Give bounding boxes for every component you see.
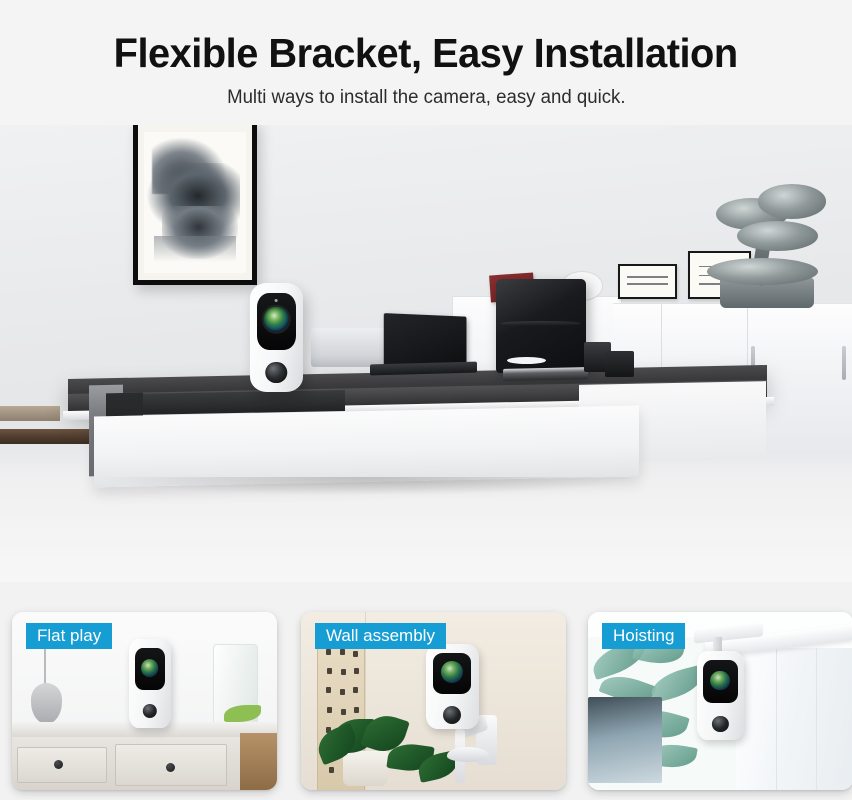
certificate-frame-1 <box>618 264 678 298</box>
camera-led-icon <box>275 299 278 302</box>
bonsai-foliage <box>758 184 826 218</box>
plant-pot <box>343 751 388 787</box>
page-title: Flexible Bracket, Easy Installation <box>114 33 738 74</box>
install-card-flat-play[interactable]: Flat play <box>12 612 277 790</box>
desk-floor-shadow <box>102 477 630 495</box>
desk-storage-box <box>311 328 392 367</box>
card-tag-flat-play: Flat play <box>26 623 112 649</box>
desk-modesty-panel <box>94 405 639 487</box>
framed-ink-painting <box>133 125 257 285</box>
camera-lens-icon <box>264 307 289 332</box>
bonsai-foliage <box>737 221 818 251</box>
camera-face-panel <box>257 293 297 350</box>
install-card-hoisting[interactable]: Hoisting <box>588 612 852 790</box>
security-camera-flat <box>129 639 171 728</box>
desk-pen-caddy-2 <box>605 351 634 377</box>
installation-cards: Flat play <box>0 612 852 792</box>
laptop-screen <box>384 313 467 367</box>
page-header: Flexible Bracket, Easy Installation Mult… <box>0 0 852 125</box>
painting-mat <box>138 125 252 280</box>
page-subtitle: Multi ways to install the camera, easy a… <box>227 87 625 109</box>
camera-pir-sensor-icon <box>266 362 287 383</box>
card-tag-hoisting: Hoisting <box>602 623 685 649</box>
hero-office-scene-image <box>0 125 852 582</box>
window-curtain <box>736 648 852 790</box>
security-camera-hero <box>250 283 304 393</box>
security-camera-ceiling <box>697 651 745 740</box>
painting-artwork <box>144 132 246 273</box>
install-card-wall-assembly[interactable]: Wall assembly <box>301 612 566 790</box>
security-camera-wall <box>426 644 479 729</box>
wall-bracket-base <box>447 747 489 761</box>
bonsai-foliage <box>707 258 818 285</box>
card-tag-wall-assembly: Wall assembly <box>315 623 446 649</box>
tv-screen <box>588 697 662 782</box>
desk-tray <box>503 367 588 381</box>
wall-baseboard-light <box>0 406 60 421</box>
